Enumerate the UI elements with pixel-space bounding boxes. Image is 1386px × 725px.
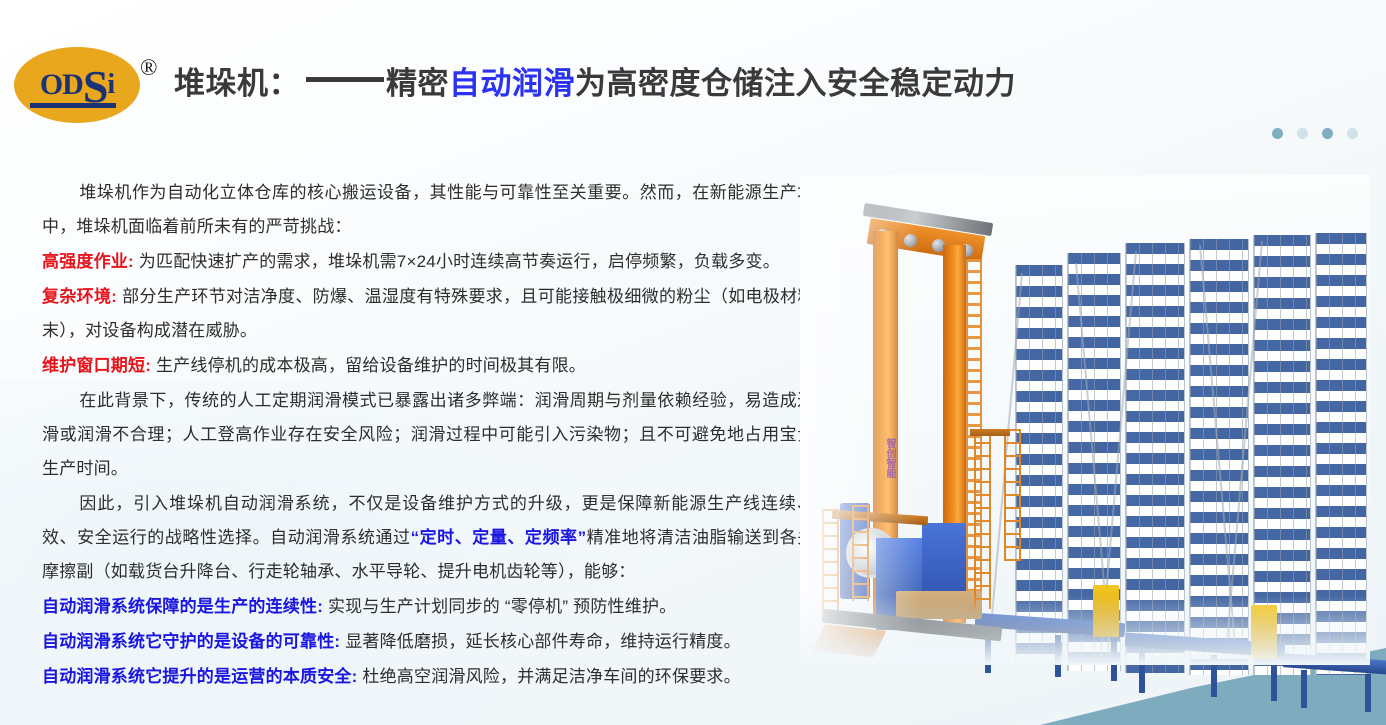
bullet-reliability: 自动润滑系统它守护的是设备的可靠性: 显著降低磨损，延长核心部件寿命，维持运行精… — [42, 625, 832, 659]
bullet-safety-lead: 自动润滑系统它提升的是运营的本质安全: — [42, 667, 357, 686]
paragraph-auto-lubrication-accent: “定时、定量、定频率” — [411, 528, 587, 547]
pagination-dot-4[interactable] — [1347, 128, 1358, 139]
pagination-dot-1[interactable] — [1272, 128, 1283, 139]
brand-logo: ODSi ® — [14, 47, 140, 123]
crane-ladder-cage — [974, 429, 991, 609]
bullet-continuity-text: 实现与生产计划同步的 “零停机” 预防性维护。 — [323, 597, 676, 616]
title-dash-rule — [306, 77, 384, 82]
bullet-high-intensity-lead: 高强度作业: — [42, 252, 134, 271]
stacker-crane-photo: 智创智能 — [800, 175, 1370, 665]
crane-ladder-cage — [1004, 429, 1021, 561]
bullet-high-intensity-text: 为匹配快速扩产的需求，堆垛机需7×24小时连续高节奏运行，启停频繁，负载多变。 — [134, 252, 780, 271]
bullet-complex-environment: 复杂环境: 部分生产环节对洁净度、防爆、温湿度有特殊要求，且可能接触极细微的粉尘… — [42, 280, 832, 348]
slide-header: ODSi ® 堆垛机：精密自动润滑为高密度仓储注入安全稳定动力 — [0, 0, 1386, 150]
title-suffix: 为高密度仓储注入安全稳定动力 — [575, 66, 1016, 101]
bullet-continuity-lead: 自动润滑系统保障的是生产的连续性: — [42, 597, 323, 616]
logo-od-text: OD — [40, 68, 83, 102]
bullet-high-intensity: 高强度作业: 为匹配快速扩产的需求，堆垛机需7×24小时连续高节奏运行，启停频繁… — [42, 245, 832, 279]
bullet-reliability-text: 显著降低磨损，延长核心部件寿命，维持运行精度。 — [340, 632, 741, 651]
logo-i-text: i — [107, 69, 114, 101]
bullet-complex-environment-text: 部分生产环节对洁净度、防爆、温湿度有特殊要求，且可能接触极细微的粉尘（如电极材料… — [42, 287, 832, 340]
bullet-complex-environment-lead: 复杂环境: — [42, 287, 117, 306]
conveyor-leg — [1301, 670, 1307, 708]
pagination-dot-3[interactable] — [1322, 128, 1333, 139]
title-prefix: 堆垛机： — [174, 66, 300, 101]
page-title: 堆垛机：精密自动润滑为高密度仓储注入安全稳定动力 — [174, 58, 1016, 103]
registered-trademark-icon: ® — [140, 55, 157, 81]
storage-racking-illustration — [1015, 233, 1365, 648]
logo-wordmark: ODSi — [14, 47, 140, 123]
bullet-safety-text: 杜绝高空润滑风险，并满足洁净车间的环保要求。 — [357, 667, 740, 686]
paragraph-manual-drawbacks: 在此背景下，传统的人工定期润滑模式已暴露出诸多弊端：润滑周期与剂量依赖经验，易造… — [42, 384, 832, 486]
bullet-reliability-lead: 自动润滑系统它守护的是设备的可靠性: — [42, 632, 340, 651]
logo-underline-bar — [30, 103, 116, 108]
paragraph-auto-lubrication-benefit: 因此，引入堆垛机自动润滑系统，不仅是设备维护方式的升级，更是保障新能源生产线连续… — [42, 487, 832, 589]
bullet-short-maintenance-window-text: 生产线停机的成本极高，留给设备维护的时间极其有限。 — [151, 356, 586, 375]
pagination-dots[interactable] — [1272, 128, 1358, 139]
photo-bottom-fade — [800, 595, 1370, 665]
body-content: 堆垛机作为自动化立体仓库的核心搬运设备，其性能与可靠性至关重要。然而，在新能源生… — [42, 176, 832, 695]
conveyor-leg — [1271, 659, 1277, 701]
slide-root: ODSi ® 堆垛机：精密自动润滑为高密度仓储注入安全稳定动力 堆垛机作为自动化… — [0, 0, 1386, 725]
photo-left-fade — [800, 175, 920, 665]
bullet-short-maintenance-window-lead: 维护窗口期短: — [42, 356, 151, 375]
crane-upper-platform — [970, 429, 1010, 436]
paragraph-intro: 堆垛机作为自动化立体仓库的核心搬运设备，其性能与可靠性至关重要。然而，在新能源生… — [42, 176, 832, 244]
logo-s-text: S — [83, 67, 108, 107]
pagination-dot-2[interactable] — [1297, 128, 1308, 139]
conveyor-leg — [1365, 674, 1371, 712]
bullet-safety: 自动润滑系统它提升的是运营的本质安全: 杜绝高空润滑风险，并满足洁净车间的环保要… — [42, 660, 832, 694]
title-mid: 精密 — [386, 66, 449, 101]
title-accent: 自动润滑 — [449, 66, 575, 101]
bullet-short-maintenance-window: 维护窗口期短: 生产线停机的成本极高，留给设备维护的时间极其有限。 — [42, 349, 832, 383]
bullet-continuity: 自动润滑系统保障的是生产的连续性: 实现与生产计划同步的 “零停机” 预防性维护… — [42, 590, 832, 624]
